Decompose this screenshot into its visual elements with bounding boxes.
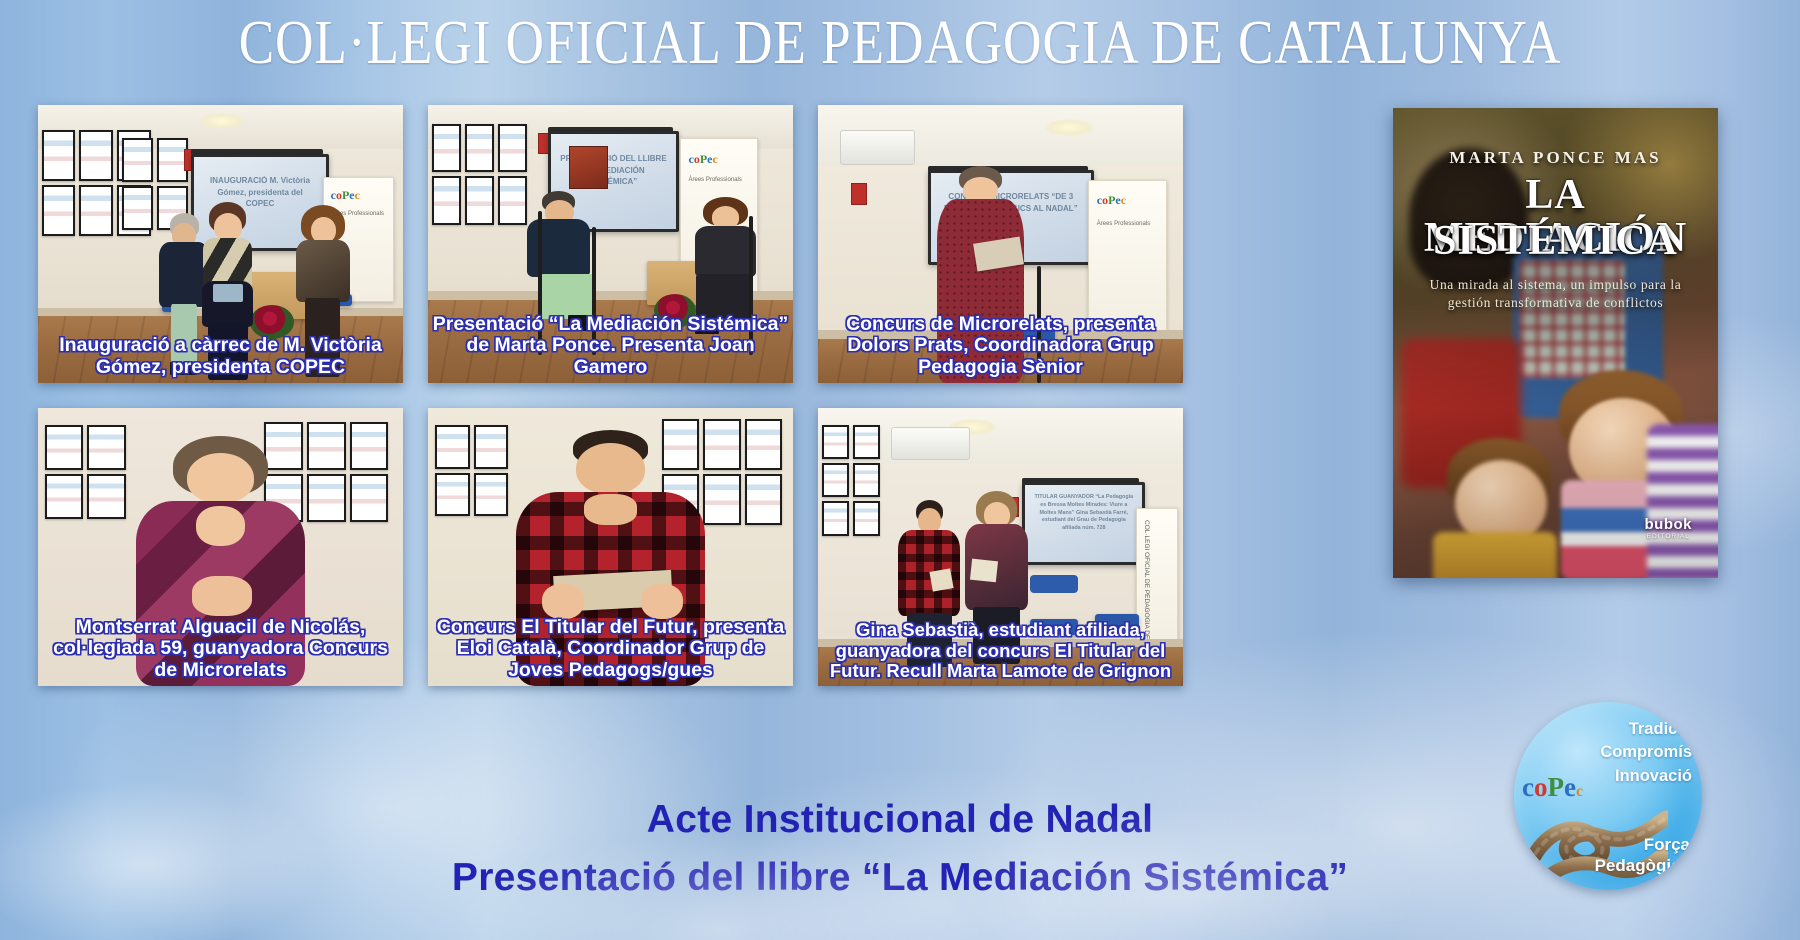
photo-montserrat-alguacil: Montserrat Alguacil de Nicolás, col·legi… bbox=[38, 408, 403, 686]
certificate-frame bbox=[122, 138, 153, 182]
held-paper bbox=[929, 568, 953, 591]
projection-screen: TITULAR GUANYADOR “La Pedagogia es Bress… bbox=[1022, 482, 1145, 566]
head bbox=[576, 443, 644, 494]
banner-subtitle: Àrees Professionals bbox=[689, 177, 742, 183]
ceiling-light-icon bbox=[1044, 119, 1094, 136]
neck bbox=[584, 494, 637, 525]
certificate-frame bbox=[703, 474, 740, 525]
banner-subtitle: Àrees Professionals bbox=[1097, 221, 1150, 227]
badge-value-compromis: Compromís bbox=[1542, 741, 1692, 764]
slide-text: TITULAR GUANYADOR “La Pedagogia es Bress… bbox=[1032, 494, 1135, 533]
photo-presentacio-llibre: PRESENTACIÓ DEL LLIBRE “LA MEDIACIÓN SIS… bbox=[428, 105, 793, 383]
certificate-frame bbox=[79, 130, 113, 181]
publisher-subtitle: EDITORIAL bbox=[1645, 533, 1693, 540]
certificate-frame bbox=[79, 185, 113, 236]
certificate-frame bbox=[157, 138, 188, 182]
photo-caption: Montserrat Alguacil de Nicolás, col·legi… bbox=[42, 617, 399, 682]
certificate-frame bbox=[350, 474, 389, 522]
neck bbox=[196, 506, 245, 546]
torso bbox=[695, 226, 756, 278]
publisher-name: bubok bbox=[1645, 516, 1693, 533]
certificate-frame bbox=[465, 176, 494, 224]
legs bbox=[540, 274, 594, 319]
badge-slogan: Força Pedagògica bbox=[1570, 834, 1690, 877]
hand-right bbox=[641, 584, 683, 620]
certificate-frame bbox=[435, 425, 470, 469]
held-paper bbox=[970, 559, 998, 582]
certificate-frame bbox=[87, 474, 125, 519]
photo-caption: Concurs El Titular del Futur, presenta E… bbox=[432, 617, 789, 682]
poster-canvas: COL·LEGI OFICIAL DE PEDAGOGIA DE CATALUN… bbox=[0, 0, 1800, 940]
certificate-frame bbox=[745, 419, 782, 470]
certificate-frame bbox=[42, 130, 76, 181]
air-conditioner bbox=[840, 130, 915, 165]
certificate-frame bbox=[498, 124, 527, 172]
certificate-frame bbox=[435, 473, 470, 517]
certificate-frame bbox=[87, 425, 125, 470]
certificate-frame bbox=[853, 463, 880, 497]
page-title: COL·LEGI OFICIAL DE PEDAGOGIA DE CATALUN… bbox=[126, 12, 1674, 74]
photo-caption: Presentació “La Mediación Sistémica” de … bbox=[432, 314, 789, 379]
certificate-frame bbox=[42, 185, 76, 236]
wall-frames bbox=[45, 425, 125, 520]
certificate-frame bbox=[853, 501, 880, 535]
certificate-frame bbox=[745, 474, 782, 525]
head bbox=[187, 453, 254, 503]
photo-inauguracio: INAUGURACIÓ M. Victòria Gómez, president… bbox=[38, 105, 403, 383]
certificate-frame bbox=[307, 422, 346, 470]
certificate-frame bbox=[350, 422, 389, 470]
photo-concurs-titular-futur: Concurs El Titular del Futur, presenta E… bbox=[428, 408, 793, 686]
book-title-line2: SISTÉMICA bbox=[1393, 220, 1718, 263]
certificate-frame bbox=[45, 425, 83, 470]
exit-sign-icon bbox=[851, 183, 867, 205]
certificate-frame bbox=[853, 425, 880, 459]
certificate-frame bbox=[432, 124, 461, 172]
certificate-frame bbox=[474, 425, 509, 469]
certificate-frame bbox=[465, 124, 494, 172]
hands bbox=[192, 576, 252, 616]
book-cover-image: MARTA PONCE MAS LA MEDIACIÓN SISTÉMICA U… bbox=[1393, 108, 1718, 578]
certificate-frame bbox=[822, 463, 849, 497]
torso bbox=[527, 219, 590, 278]
photo-caption: Gina Sebastià, estudiant afiliada, guany… bbox=[822, 620, 1179, 682]
torso bbox=[296, 240, 350, 302]
photo-gina-sebastia: TITULAR GUANYADOR “La Pedagogia es Bress… bbox=[818, 408, 1183, 686]
certificate-frame bbox=[703, 419, 740, 470]
photo-caption: Inauguració a càrrec de M. Victòria Góme… bbox=[42, 335, 399, 379]
certificate-frame bbox=[474, 473, 509, 517]
badge-slogan-line2: Pedagògica bbox=[1570, 855, 1690, 876]
badge-value-tradicio: Tradició bbox=[1542, 718, 1692, 741]
hand-left bbox=[542, 584, 584, 620]
publisher-logo: bubok EDITORIAL bbox=[1645, 516, 1693, 540]
copec-badge: Tradició Compromís Innovació coPec Força… bbox=[1514, 702, 1702, 890]
photo-concurs-microrelats: CONCURS MICRORELATS “DE 3 MINUTS PEDAGÒG… bbox=[818, 105, 1183, 383]
wall-frames bbox=[435, 425, 508, 517]
copec-logo: coPec bbox=[331, 188, 360, 203]
certificate-frame bbox=[822, 425, 849, 459]
held-book bbox=[213, 284, 243, 302]
certificate-frame bbox=[45, 474, 83, 519]
book-cover-thumbnail bbox=[569, 146, 608, 190]
certificate-frame bbox=[122, 186, 153, 230]
photo-caption: Concurs de Microrelats, presenta Dolors … bbox=[822, 314, 1179, 379]
copec-rollup-banner: coPec Àrees Professionals bbox=[1088, 180, 1167, 335]
certificate-frame bbox=[822, 501, 849, 535]
copec-logo: coPec bbox=[1522, 772, 1583, 803]
book-author: MARTA PONCE MAS bbox=[1393, 148, 1718, 168]
wall-frames bbox=[822, 425, 880, 536]
chair-back bbox=[1030, 575, 1078, 593]
wall-frames bbox=[432, 124, 527, 224]
copec-logo: coPec bbox=[1097, 193, 1126, 208]
badge-slogan-line1: Força bbox=[1570, 834, 1690, 855]
book-subtitle: Una mirada al sistema, un impulso para l… bbox=[1415, 276, 1696, 312]
air-conditioner bbox=[891, 427, 970, 460]
certificate-frame bbox=[307, 474, 346, 522]
certificate-frame bbox=[432, 176, 461, 224]
copec-logo: coPec bbox=[689, 152, 718, 167]
